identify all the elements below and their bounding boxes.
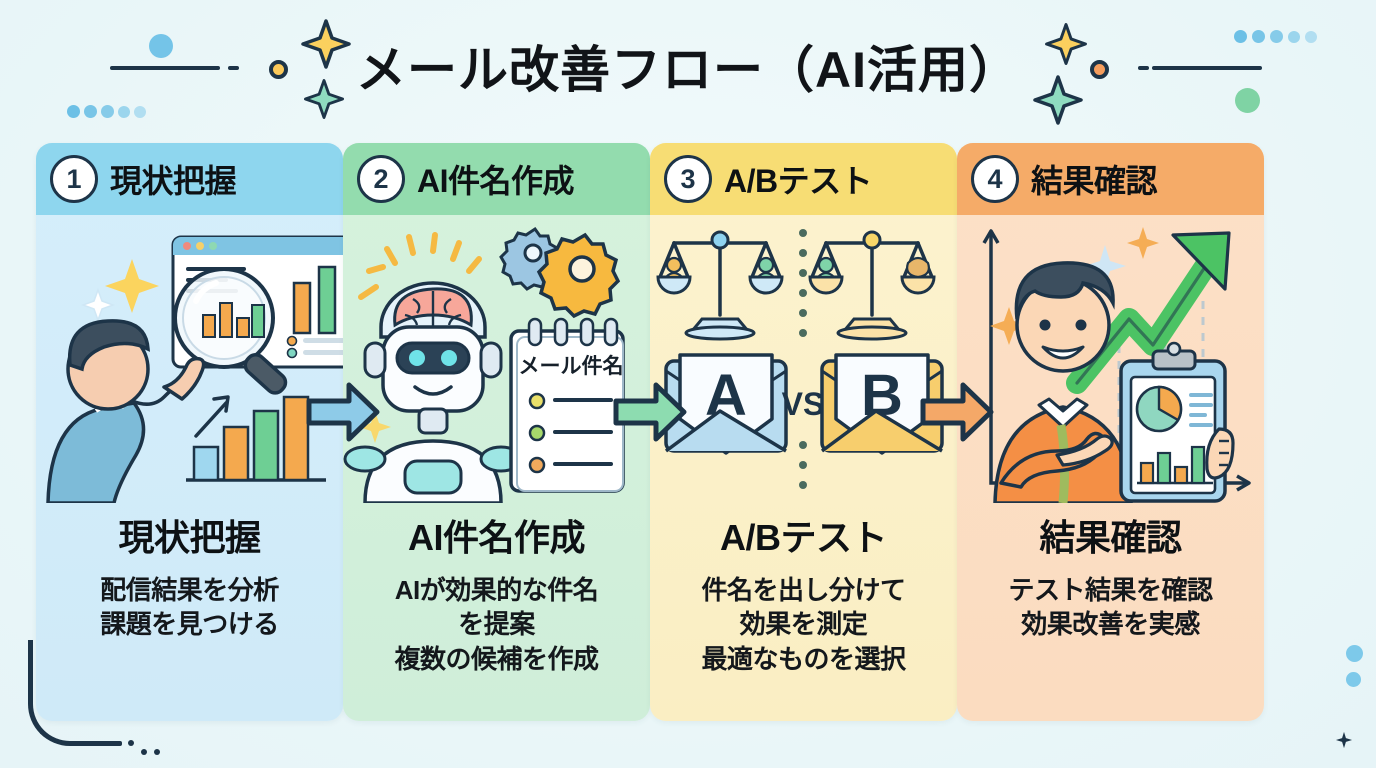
card-text-step-3: A/Bテスト 件名を出し分けて 効果を測定 最適なものを選択 xyxy=(650,503,957,721)
dot-icon xyxy=(67,105,80,118)
page-title: メール改善フロー（AI活用） xyxy=(0,30,1376,102)
notepad-label: メール件名 xyxy=(519,354,624,378)
step-badge-3: 3 xyxy=(664,155,712,203)
flow-card-step-2[interactable]: 2 AI件名作成 xyxy=(343,143,650,721)
dot-icon xyxy=(118,106,130,118)
card-header-step-2: 2 AI件名作成 xyxy=(343,143,650,215)
card-desc-1-line-1: 配信結果を分析 xyxy=(100,573,279,607)
card-header-step-4: 4 結果確認 xyxy=(957,143,1264,215)
card-desc-2-line-3: 複数の候補を作成 xyxy=(394,642,598,676)
flow-cards-row: 1 現状把握 xyxy=(36,143,1346,728)
card-desc-3-line-2: 効果を測定 xyxy=(740,607,868,641)
dot-icon xyxy=(1346,645,1363,662)
card-desc-1-line-2: 課題を見つける xyxy=(100,607,279,641)
card-title-2: AI件名作成 xyxy=(408,509,585,561)
arrow-step2-to-step3 xyxy=(612,381,688,443)
card-header-step-1: 1 現状把握 xyxy=(36,143,343,215)
card-text-step-4: 結果確認 テスト結果を確認 効果改善を実感 xyxy=(957,503,1264,721)
illustration-ai-robot-with-notepad: メール件名 xyxy=(343,215,650,503)
step-badge-1: 1 xyxy=(50,155,98,203)
star-icon xyxy=(1334,730,1354,750)
arrow-step3-to-step4 xyxy=(919,381,995,443)
card-title-4: 結果確認 xyxy=(1039,509,1181,561)
card-title-1: 現状把握 xyxy=(118,509,260,561)
dot-icon xyxy=(101,105,114,118)
card-header-title-3: A/Bテスト xyxy=(724,156,872,202)
card-text-step-1: 現状把握 配信結果を分析 課題を見つける xyxy=(36,503,343,721)
flow-card-step-4[interactable]: 4 結果確認 xyxy=(957,143,1264,721)
dot-icon xyxy=(134,106,146,118)
card-title-3: A/Bテスト xyxy=(720,509,887,561)
card-header-title-2: AI件名作成 xyxy=(417,156,574,202)
card-header-title-1: 現状把握 xyxy=(110,156,236,202)
dot-icon xyxy=(1346,672,1361,687)
flow-card-step-3[interactable]: 3 A/Bテスト xyxy=(650,143,957,721)
dot-icon xyxy=(128,740,134,746)
card-desc-4-line-1: テスト結果を確認 xyxy=(1008,573,1212,607)
card-desc-2-line-2: を提案 xyxy=(458,607,535,641)
illustration-ab-envelopes-with-scales: A VS B xyxy=(650,215,957,503)
dot-icon xyxy=(84,105,97,118)
card-desc-4-line-2: 効果改善を実感 xyxy=(1021,607,1200,641)
flow-card-step-1[interactable]: 1 現状把握 xyxy=(36,143,343,721)
card-header-step-3: 3 A/Bテスト xyxy=(650,143,957,215)
card-desc-2-line-1: AIが効果的な件名 xyxy=(395,573,599,607)
card-desc-3-line-3: 最適なものを選択 xyxy=(701,642,905,676)
step-badge-4: 4 xyxy=(971,155,1019,203)
dot-icon xyxy=(141,749,147,755)
card-header-title-4: 結果確認 xyxy=(1031,156,1157,202)
illustration-person-with-clipboard-growth-arrow xyxy=(957,215,1264,503)
vs-label: VS xyxy=(782,386,825,422)
infographic-canvas: メール改善フロー（AI活用） 1 現状把握 xyxy=(0,0,1376,768)
dot-icon xyxy=(154,749,160,755)
card-desc-3-line-1: 件名を出し分けて xyxy=(701,573,905,607)
card-text-step-2: AI件名作成 AIが効果的な件名 を提案 複数の候補を作成 xyxy=(343,503,650,721)
step-badge-2: 2 xyxy=(357,155,405,203)
arrow-step1-to-step2 xyxy=(305,381,381,443)
illustration-person-with-magnifier-dashboard xyxy=(36,215,343,503)
